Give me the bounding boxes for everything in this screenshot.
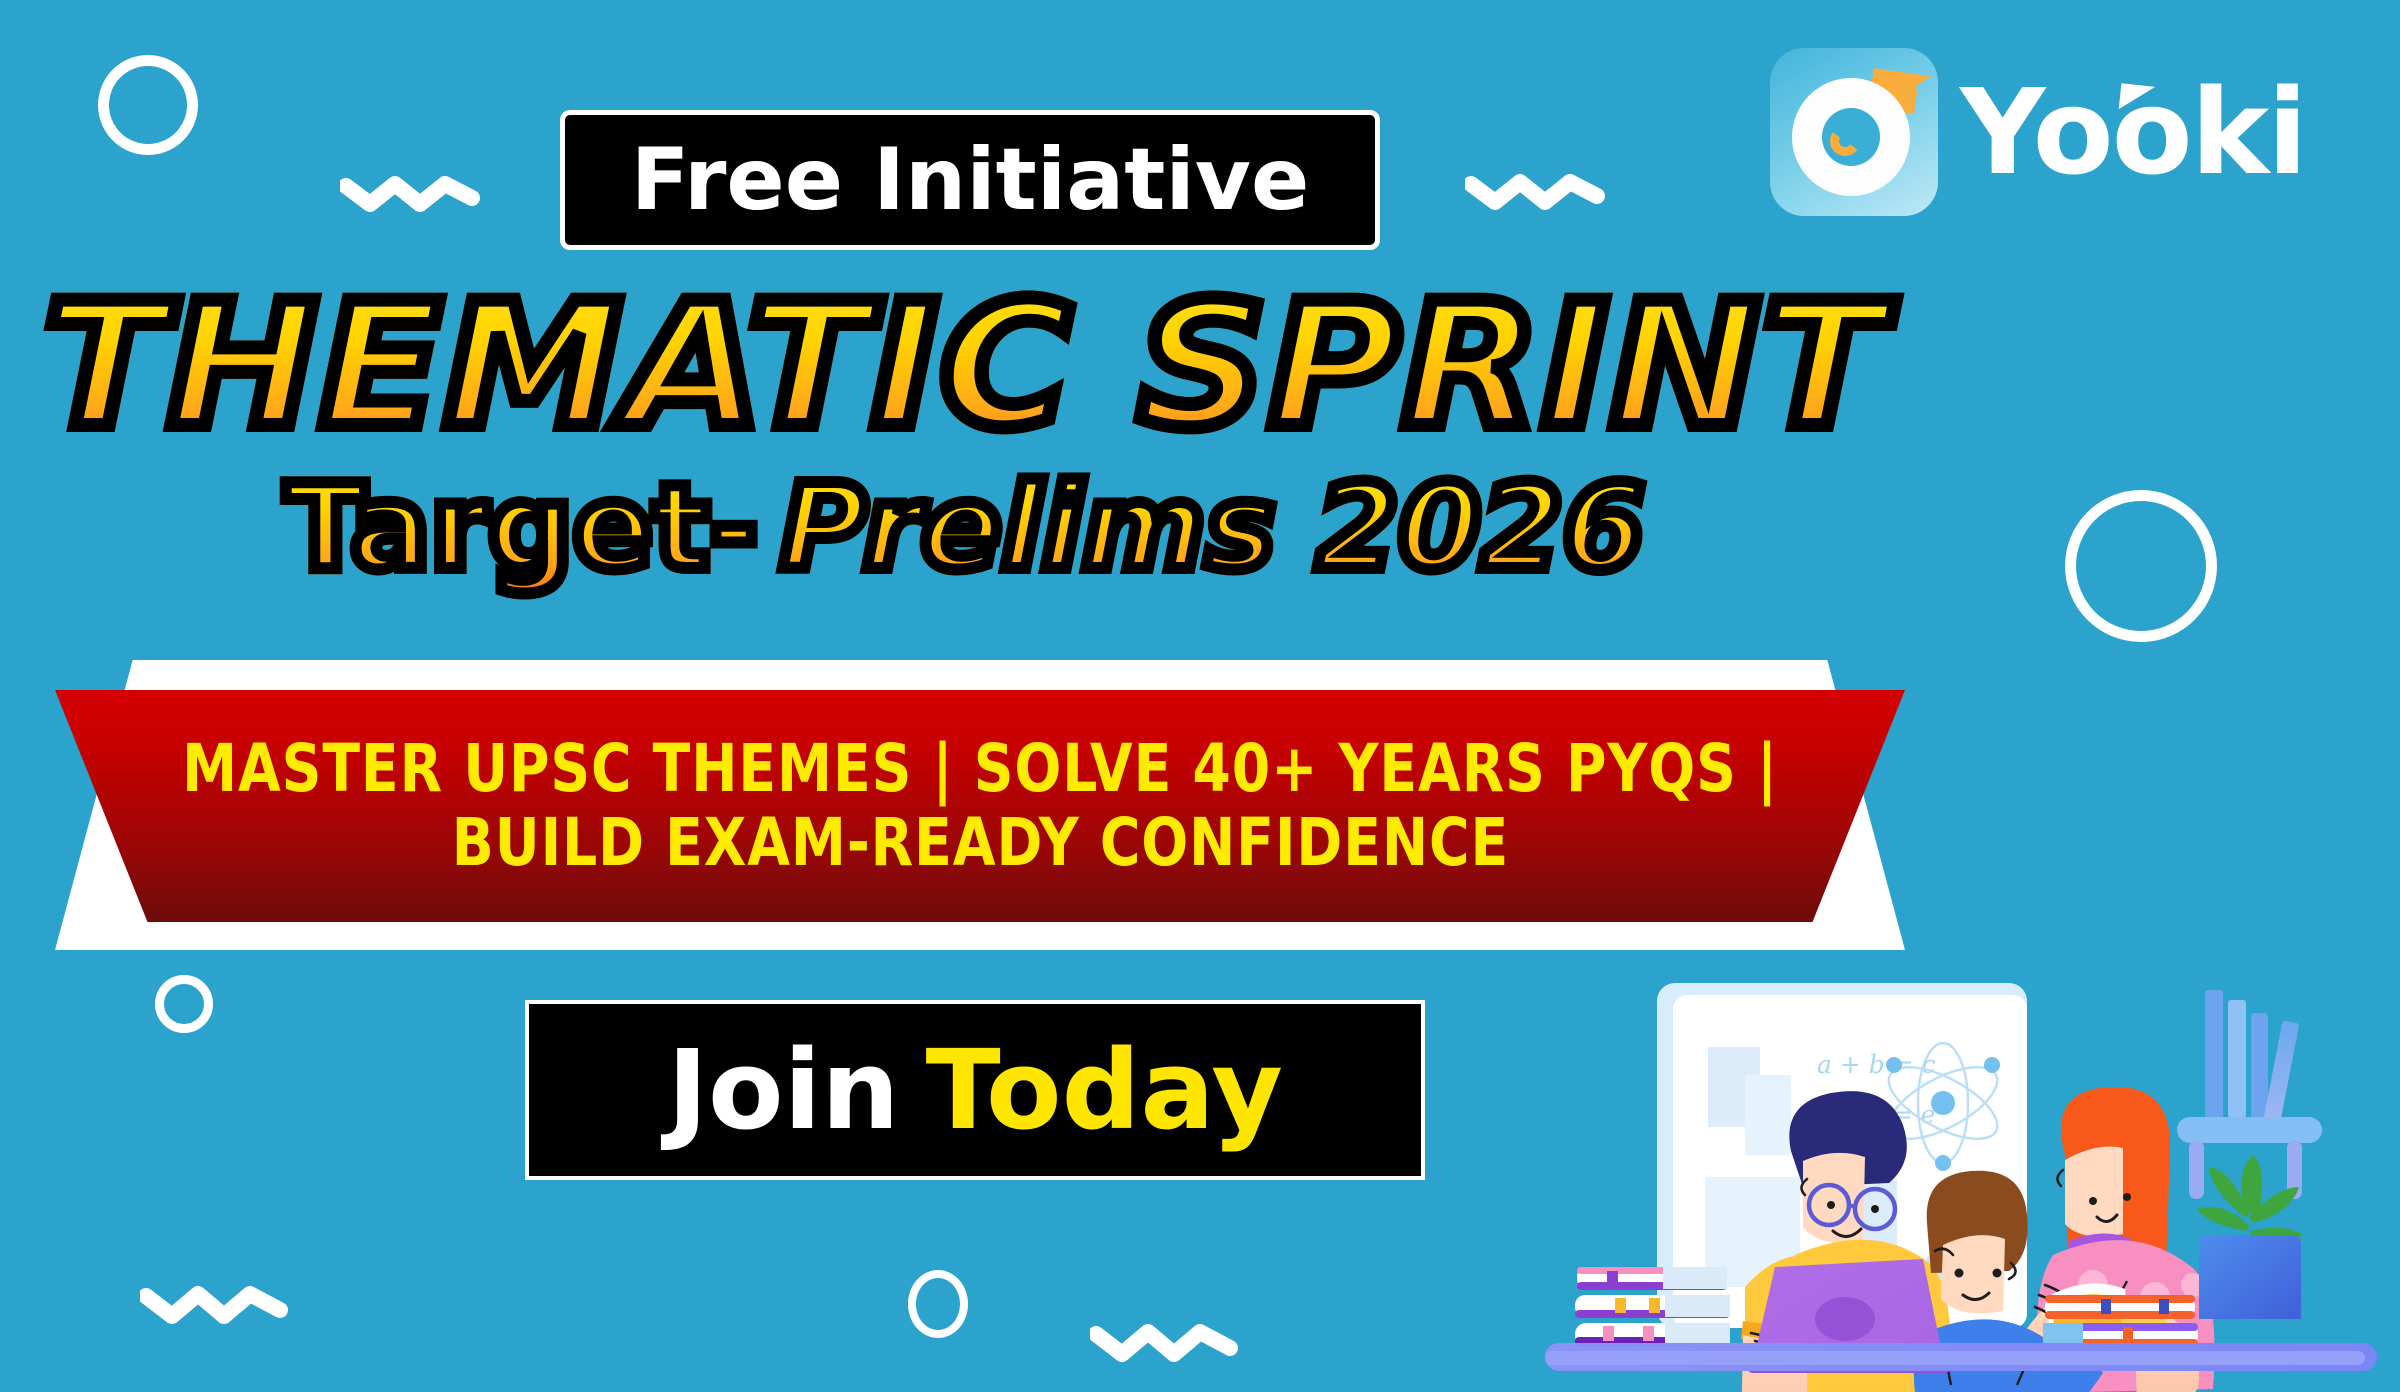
- book-stack-left: [1575, 1267, 1730, 1347]
- decor-ring-top-left: [98, 55, 198, 155]
- headline-block: THEMATIC SPRINT: [0, 276, 1930, 457]
- wordmark-flag-icon: [2119, 83, 2156, 112]
- subtitle-block: Target-Prelims 2026: [0, 466, 1930, 590]
- join-today-button[interactable]: Join Today: [525, 1000, 1425, 1180]
- ribbon-line-1: MASTER UPSC THEMES | SOLVE 40+ YEARS PYQ…: [182, 732, 1778, 806]
- free-initiative-label: Free Initiative: [631, 130, 1310, 230]
- subtitle-prelims: Prelims 2026: [780, 466, 1645, 590]
- page-title: THEMATIC SPRINT: [44, 276, 1887, 457]
- free-initiative-badge: Free Initiative: [560, 110, 1380, 250]
- features-ribbon: MASTER UPSC THEMES | SOLVE 40+ YEARS PYQ…: [55, 660, 1905, 950]
- decor-zigzag-bottom-left: [140, 1280, 290, 1324]
- subtitle-target: Target-: [285, 466, 758, 590]
- brand-wordmark: Yooki: [1960, 73, 2306, 191]
- yooki-icon: [1770, 48, 1938, 216]
- decor-zigzag-bottom-center: [1090, 1318, 1240, 1362]
- brand-logo[interactable]: Yooki: [1770, 48, 2306, 216]
- cta-word-join: Join: [667, 1026, 900, 1154]
- decor-ring-left-small: [155, 975, 213, 1033]
- decor-ring-right: [2065, 490, 2217, 642]
- whiteboard-formula-1: a + b = c: [1817, 1050, 1936, 1079]
- promo-banner: Yooki Free Initiative THEMATIC SPRINT Ta…: [0, 0, 2400, 1392]
- ribbon-red-band: MASTER UPSC THEMES | SOLVE 40+ YEARS PYQ…: [55, 690, 1905, 922]
- decor-ring-bottom: [908, 1270, 968, 1338]
- decor-zigzag-top-left: [340, 172, 480, 212]
- ribbon-line-2: BUILD EXAM-READY CONFIDENCE: [451, 806, 1508, 880]
- cta-word-today: Today: [926, 1026, 1283, 1154]
- study-illustration: a + b = c c + d = e: [1545, 955, 2400, 1392]
- decor-zigzag-top-right: [1465, 170, 1605, 210]
